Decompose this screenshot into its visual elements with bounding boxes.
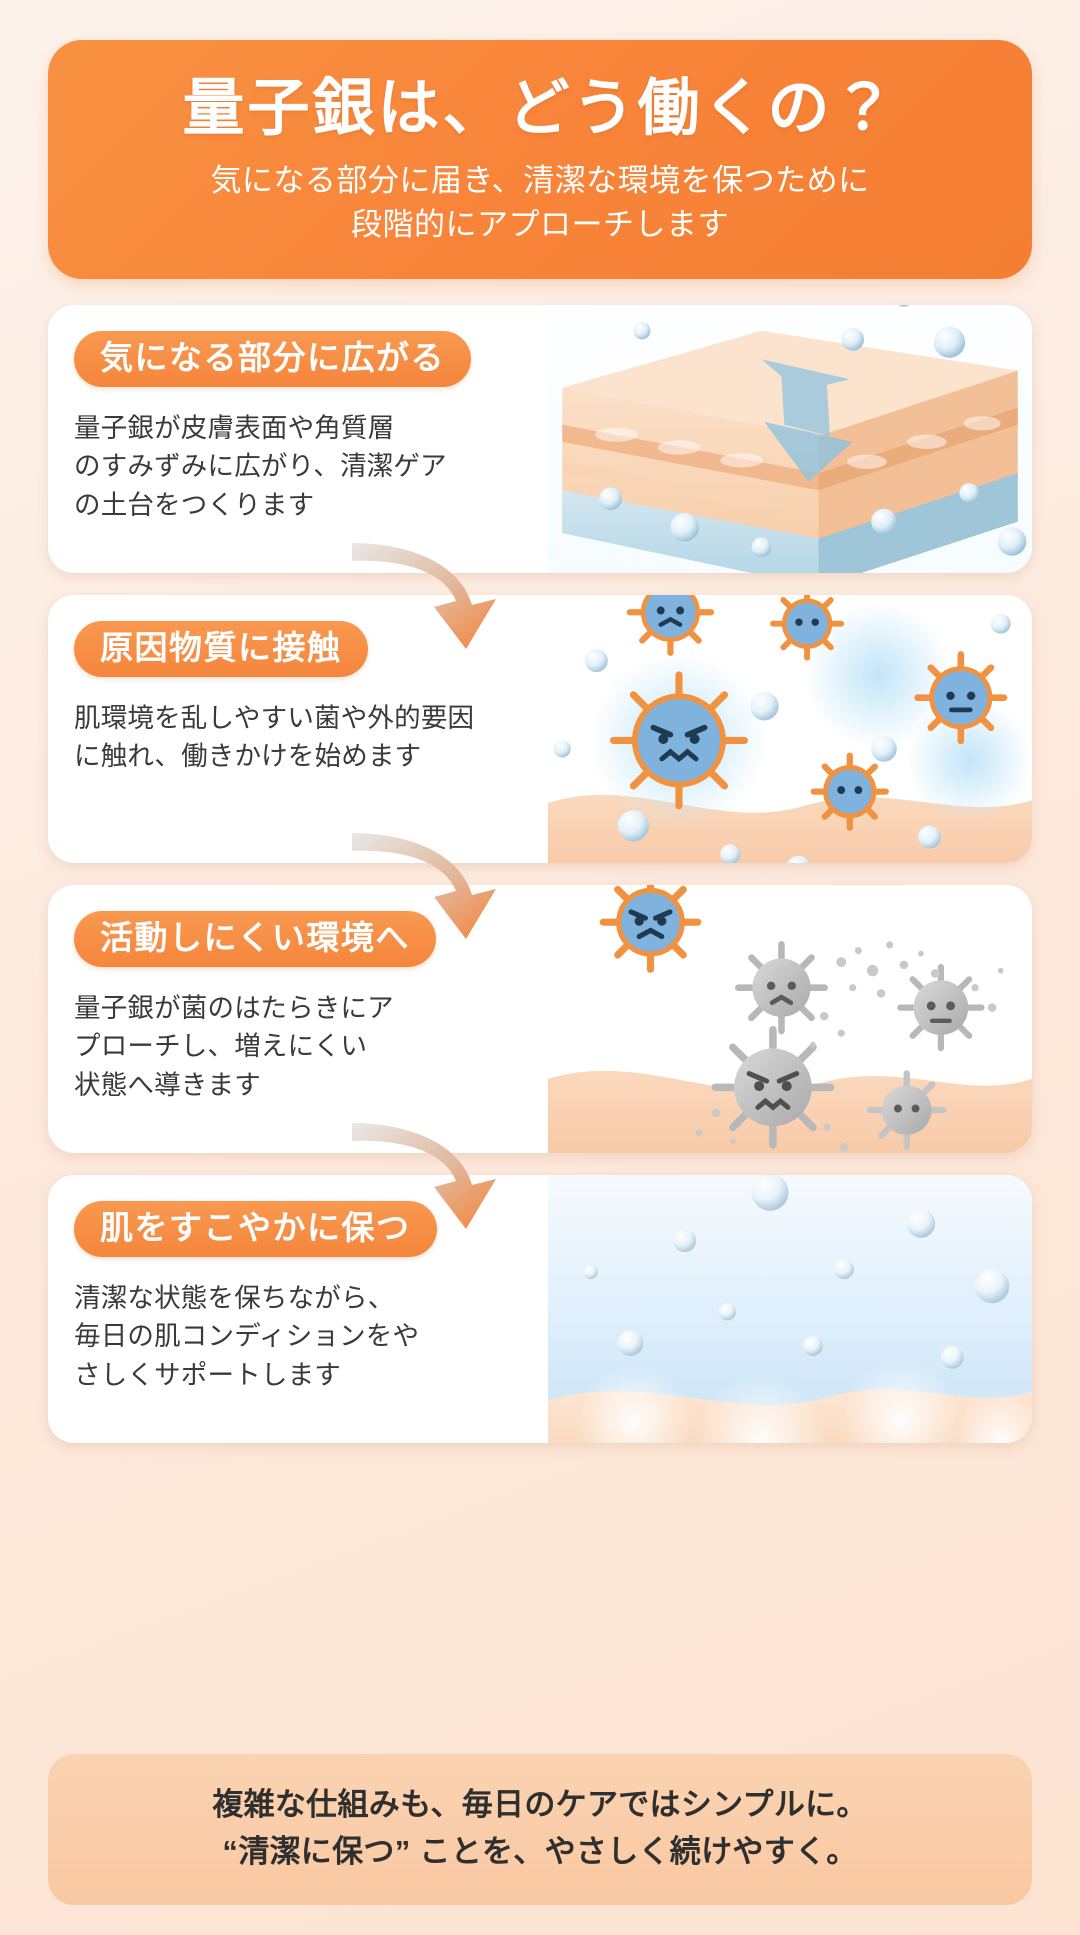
step-card-4-badge: 肌をすこやかに保つ [74, 1201, 437, 1257]
hero-subtitle-line-2: 段階的にアプローチします [78, 203, 1002, 247]
step-card-2-badge: 原因物質に接触 [74, 621, 368, 677]
step-card-2-text: 原因物質に接触 肌環境を乱しやすい菌や外的要因 に触れ、働きかけを始めます [48, 595, 548, 863]
germs-contact-illustration [548, 595, 1032, 863]
step-card-4: 肌をすこやかに保つ 清潔な状態を保ちながら、 毎日の肌コンディションをや さしく… [48, 1175, 1032, 1443]
footer-line-1: 複雑な仕組みも、毎日のケアではシンプルに。 [68, 1782, 1012, 1829]
hero-subtitle-line-1: 気になる部分に届き、清潔な環境を保つために [78, 159, 1002, 203]
footer-banner: 複雑な仕組みも、毎日のケアではシンプルに。 “清潔に保つ” ことを、やさしく続け… [48, 1754, 1032, 1905]
clean-skin-illustration [548, 1175, 1032, 1443]
step-card-1-description: 量子銀が皮膚表面や角質層 のすみずみに広がり、清潔ゲア の土台をつくります [74, 409, 526, 524]
step-card-4-description: 清潔な状態を保ちながら、 毎日の肌コンディションをや さしくサポートします [74, 1279, 526, 1394]
step-card-4-desc-line-1: 清潔な状態を保ちながら、 [74, 1279, 526, 1317]
step-card-2-desc-line-2: に触れ、働きかけを始めます [74, 737, 526, 775]
page-title: 量子銀は、どう働くの？ [78, 74, 1002, 145]
hero-banner: 量子銀は、どう働くの？ 気になる部分に届き、清潔な環境を保つために 段階的にアプ… [48, 40, 1032, 279]
step-card-4-desc-line-2: 毎日の肌コンディションをや [74, 1317, 526, 1355]
step-card-2: 原因物質に接触 肌環境を乱しやすい菌や外的要因 に触れ、働きかけを始めます [48, 595, 1032, 863]
step-card-list: 気になる部分に広がる 量子銀が皮膚表面や角質層 のすみずみに広がり、清潔ゲア の… [48, 305, 1032, 1728]
step-card-1-badge: 気になる部分に広がる [74, 331, 471, 387]
step-card-1-desc-line-1: 量子銀が皮膚表面や角質層 [74, 409, 526, 447]
step-card-1-desc-line-2: のすみずみに広がり、清潔ゲア [74, 447, 526, 485]
step-card-3-desc-line-3: 状態へ導きます [74, 1066, 526, 1104]
step-card-2-description: 肌環境を乱しやすい菌や外的要因 に触れ、働きかけを始めます [74, 699, 526, 776]
step-card-3-desc-line-1: 量子銀が菌のはたらきにア [74, 989, 526, 1027]
step-card-1: 気になる部分に広がる 量子銀が皮膚表面や角質層 のすみずみに広がり、清潔ゲア の… [48, 305, 1032, 573]
step-card-3: 活動しにくい環境へ 量子銀が菌のはたらきにア プローチし、増えにくい 状態へ導き… [48, 885, 1032, 1153]
step-card-1-text: 気になる部分に広がる 量子銀が皮膚表面や角質層 のすみずみに広がり、清潔ゲア の… [48, 305, 548, 573]
step-card-3-text: 活動しにくい環境へ 量子銀が菌のはたらきにア プローチし、増えにくい 状態へ導き… [48, 885, 548, 1153]
step-card-2-desc-line-1: 肌環境を乱しやすい菌や外的要因 [74, 699, 526, 737]
step-card-3-desc-line-2: プローチし、増えにくい [74, 1027, 526, 1065]
step-card-1-desc-line-3: の土台をつくります [74, 486, 526, 524]
step-card-4-desc-line-3: さしくサポートします [74, 1356, 526, 1394]
footer-line-2: “清潔に保つ” ことを、やさしく続けやすく。 [68, 1829, 1012, 1876]
infographic-page: 量子銀は、どう働くの？ 気になる部分に届き、清潔な環境を保つために 段階的にアプ… [0, 0, 1080, 1935]
step-card-3-badge: 活動しにくい環境へ [74, 911, 436, 967]
step-card-3-description: 量子銀が菌のはたらきにア プローチし、増えにくい 状態へ導きます [74, 989, 526, 1104]
skin-layers-illustration [548, 305, 1032, 573]
step-card-4-text: 肌をすこやかに保つ 清潔な状態を保ちながら、 毎日の肌コンディションをや さしく… [48, 1175, 548, 1443]
hero-subtitle: 気になる部分に届き、清潔な環境を保つために 段階的にアプローチします [78, 159, 1002, 247]
germs-weakened-illustration [548, 885, 1032, 1153]
